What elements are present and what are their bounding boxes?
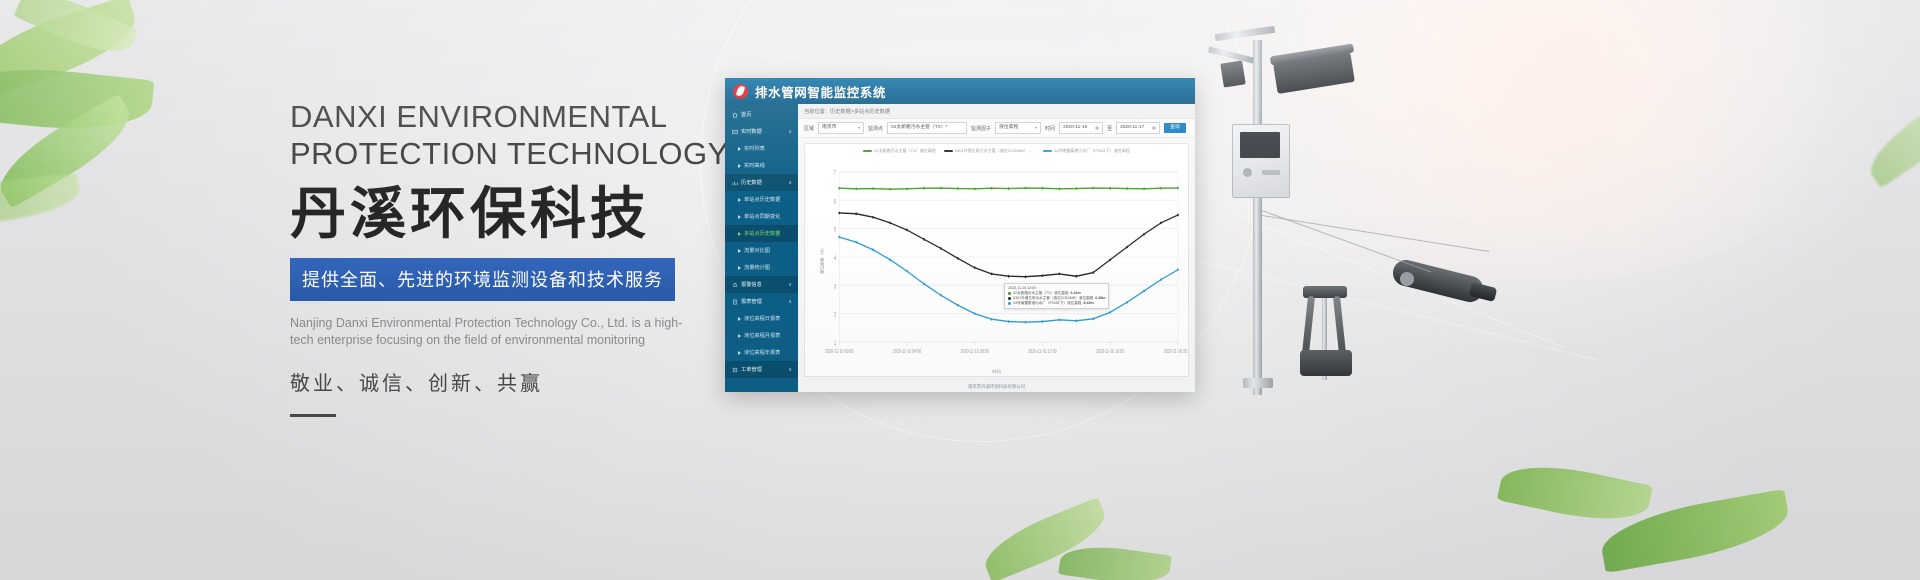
monitor-icon (732, 129, 738, 135)
tooltip-value: 6.38m (1095, 296, 1105, 301)
caret-icon (738, 334, 741, 338)
bell-icon (732, 282, 738, 288)
sidebar-label: 实时曲线 (744, 162, 765, 169)
date-range-separator: 至 (1107, 125, 1112, 132)
sidebar-item-monthly-level-report[interactable]: 液位高程月报表 (725, 327, 798, 344)
caret-icon (738, 317, 741, 321)
svg-text:2020-11-16 16:00: 2020-11-16 16:00 (1096, 348, 1125, 354)
sidebar-item-realtime-list[interactable]: 实时列表 (725, 140, 798, 157)
hero-text-block: DANXI ENVIRONMENTAL PROTECTION TECHNOLOG… (290, 98, 710, 417)
monitoring-system-screenshot: 排水管网智能监控系统 首页 实时数据 ∧ (725, 78, 1195, 392)
history-chart-card: 02太新路污水主管（TX）液位高程 0301外墙左岗污水主管（液位COD/MN）… (804, 143, 1189, 377)
app-sidebar[interactable]: 首页 实时数据 ∧ 实时列表 实时曲线 (725, 104, 798, 392)
sidebar-label: 实时数据 (741, 128, 762, 135)
sidebar-label: 液位高程月报表 (744, 332, 780, 339)
chevron-down-icon: ∨ (788, 282, 792, 288)
sensor-probe (1333, 296, 1346, 354)
sidebar-item-multi-site-history[interactable]: 多站点历史数据 (725, 225, 798, 242)
sidebar-item-single-site-comparison[interactable]: 单站点同期变化 (725, 208, 798, 225)
sidebar-item-history-data[interactable]: 历史数据 ∧ (725, 174, 798, 191)
site-value: 02太新路污水主管（TX）* (891, 123, 948, 133)
sidebar-item-report-management[interactable]: 报表管理 ∧ (725, 293, 798, 310)
caret-icon (738, 266, 741, 270)
sidebar-item-flow-statistics-chart[interactable]: 流量统计图 (725, 259, 798, 276)
app-logo-icon (733, 84, 748, 99)
sidebar-label: 实时列表 (744, 145, 765, 152)
region-value: 南京市 (822, 123, 836, 133)
controller-label (1262, 170, 1280, 175)
sidebar-item-flow-comparison-chart[interactable]: 流量对比图 (725, 242, 798, 259)
hero-underline-rule (290, 414, 336, 417)
chevron-down-icon: ▾ (1035, 123, 1037, 133)
breadcrumb: 当前位置：历史数据>多站点历史数据 (798, 104, 1195, 119)
sensor-base-block (1300, 350, 1352, 376)
sidebar-item-realtime-data[interactable]: 实时数据 ∧ (725, 123, 798, 140)
chevron-up-icon: ∧ (788, 299, 792, 305)
app-content: 当前位置：历史数据>多站点历史数据 区域 南京市 ▾ 监测点 02太新路污水主管… (798, 104, 1195, 392)
hero-english-line-1: DANXI ENVIRONMENTAL (290, 98, 710, 135)
tooltip-row: 04号南雷泰港污水厂（РО/АТ下）液位高程 8.43m (1008, 301, 1105, 306)
site-select[interactable]: 02太新路污水主管（TX）* (887, 122, 967, 134)
tooltip-dot (1008, 297, 1011, 300)
caret-icon (738, 164, 741, 168)
date-start-input[interactable]: 2020-11-16 ▦ (1059, 122, 1103, 134)
factor-value: 液位高程 (999, 123, 1018, 133)
chevron-up-icon: ∧ (788, 129, 792, 135)
chart-tooltip: 2020-11-16 12:00 02太新路污水主管（TX）液位高程 6.42m… (1004, 283, 1109, 309)
time-label: 时间 (1045, 125, 1055, 132)
sidebar-label: 多站点历史数据 (744, 230, 780, 237)
date-start-value: 2020-11-16 (1063, 123, 1087, 133)
calendar-icon: ▦ (1152, 123, 1156, 133)
sidebar-label: 首页 (741, 111, 751, 118)
sidebar-label: 单站点历史数据 (744, 196, 780, 203)
query-button[interactable]: 查询 (1164, 123, 1186, 133)
caret-icon (738, 351, 741, 355)
caret-icon (738, 198, 741, 202)
sensor-probe (1302, 296, 1315, 354)
sidebar-label: 液位高程日报表 (744, 315, 780, 322)
factor-label: 监测因子 (971, 125, 991, 132)
caret-icon (738, 215, 741, 219)
sidebar-item-home[interactable]: 首页 (725, 106, 798, 123)
hero-tagline-bar: 提供全面、先进的环境监测设备和技术服务 (290, 258, 675, 301)
sidebar-label: 报警信息 (741, 281, 762, 288)
controller-display (1240, 132, 1280, 158)
chevron-up-icon: ∧ (788, 180, 792, 186)
sidebar-item-yearly-level-report[interactable]: 液位高程年报表 (725, 344, 798, 361)
mast-base (1243, 378, 1273, 388)
svg-text:7: 7 (834, 170, 836, 177)
chevron-down-icon: ∨ (788, 367, 792, 373)
leaf-decoration (0, 173, 82, 227)
sidebar-item-alarm-info[interactable]: 报警信息 ∨ (725, 276, 798, 293)
factor-select[interactable]: 液位高程 ▾ (995, 122, 1041, 134)
camera-mast (1253, 40, 1262, 395)
app-title: 排水管网智能监控系统 (755, 82, 886, 101)
svg-text:2020-11-16 04:00: 2020-11-16 04:00 (893, 348, 922, 354)
controller-knob (1243, 168, 1252, 177)
home-icon (732, 112, 738, 118)
svg-text:2: 2 (834, 312, 836, 319)
tooltip-value: 8.43m (1083, 301, 1093, 306)
svg-text:2020-11-16 00:00: 2020-11-16 00:00 (825, 348, 854, 354)
leaf-decoration (1497, 455, 1653, 531)
svg-text:4: 4 (834, 255, 837, 262)
sidebar-item-work-order[interactable]: 工单管理 ∨ (725, 361, 798, 378)
hero-english-line-2: PROTECTION TECHNOLOGY (290, 135, 710, 172)
tooltip-name: 04号南雷泰港污水厂（РО/АТ下）液位高程 (1013, 301, 1081, 306)
order-icon (732, 367, 738, 373)
site-label: 监测点 (868, 125, 883, 132)
svg-text:1: 1 (834, 340, 836, 347)
chart-plot: 76543212020-11-16 00:002020-11-16 04:002… (805, 144, 1188, 376)
region-select[interactable]: 南京市 ▾ (818, 122, 864, 134)
tooltip-dot (1008, 302, 1011, 305)
camera-lens-hood (1220, 60, 1245, 87)
sidebar-label: 单站点同期变化 (744, 213, 780, 220)
calendar-icon: ▦ (1095, 123, 1099, 133)
filter-toolbar[interactable]: 区域 南京市 ▾ 监测点 02太新路污水主管（TX）* 监测因子 液位高程 ▾ … (798, 119, 1195, 138)
app-header: 排水管网智能监控系统 (725, 78, 1195, 104)
sidebar-label: 工单管理 (741, 366, 762, 373)
sidebar-item-daily-level-report[interactable]: 液位高程日报表 (725, 310, 798, 327)
hero-banner: DANXI ENVIRONMENTAL PROTECTION TECHNOLOG… (0, 0, 1920, 580)
hero-description: Nanjing Danxi Environmental Protection T… (290, 315, 685, 349)
sidebar-label: 流量统计图 (744, 264, 770, 271)
sidebar-item-realtime-curve[interactable]: 实时曲线 (725, 157, 798, 174)
svg-text:2020-11-16 20:00: 2020-11-16 20:00 (1164, 348, 1188, 354)
svg-text:2020-11-16 08:00: 2020-11-16 08:00 (961, 348, 990, 354)
sidebar-label: 液位高程年报表 (744, 349, 780, 356)
hero-slogan: 敬业、诚信、创新、共赢 (290, 367, 710, 396)
sidebar-label: 流量对比图 (744, 247, 770, 254)
caret-icon (738, 249, 741, 253)
chart-icon (732, 180, 738, 186)
svg-text:5: 5 (834, 227, 836, 234)
tooltip-dot (1008, 292, 1011, 295)
app-footer: 南京市丹溪环保科技有限公司 (798, 384, 1195, 390)
sidebar-label: 报表管理 (741, 298, 762, 305)
date-end-input[interactable]: 2020-11-17 ▦ (1116, 122, 1160, 134)
region-label: 区域 (804, 125, 814, 132)
svg-text:2020-11-16 12:00: 2020-11-16 12:00 (1028, 348, 1057, 354)
date-end-value: 2020-11-17 (1120, 123, 1144, 133)
caret-icon (738, 147, 741, 151)
leaf-decoration (1058, 541, 1172, 580)
svg-text:6: 6 (834, 199, 836, 206)
file-icon (732, 299, 738, 305)
sidebar-item-single-site-history[interactable]: 单站点历史数据 (725, 191, 798, 208)
sidebar-label: 历史数据 (741, 179, 762, 186)
svg-text:3: 3 (834, 284, 836, 291)
hero-chinese-title: 丹溪环保科技 (290, 182, 710, 246)
caret-icon (738, 232, 741, 236)
chevron-down-icon: ▾ (858, 123, 860, 133)
